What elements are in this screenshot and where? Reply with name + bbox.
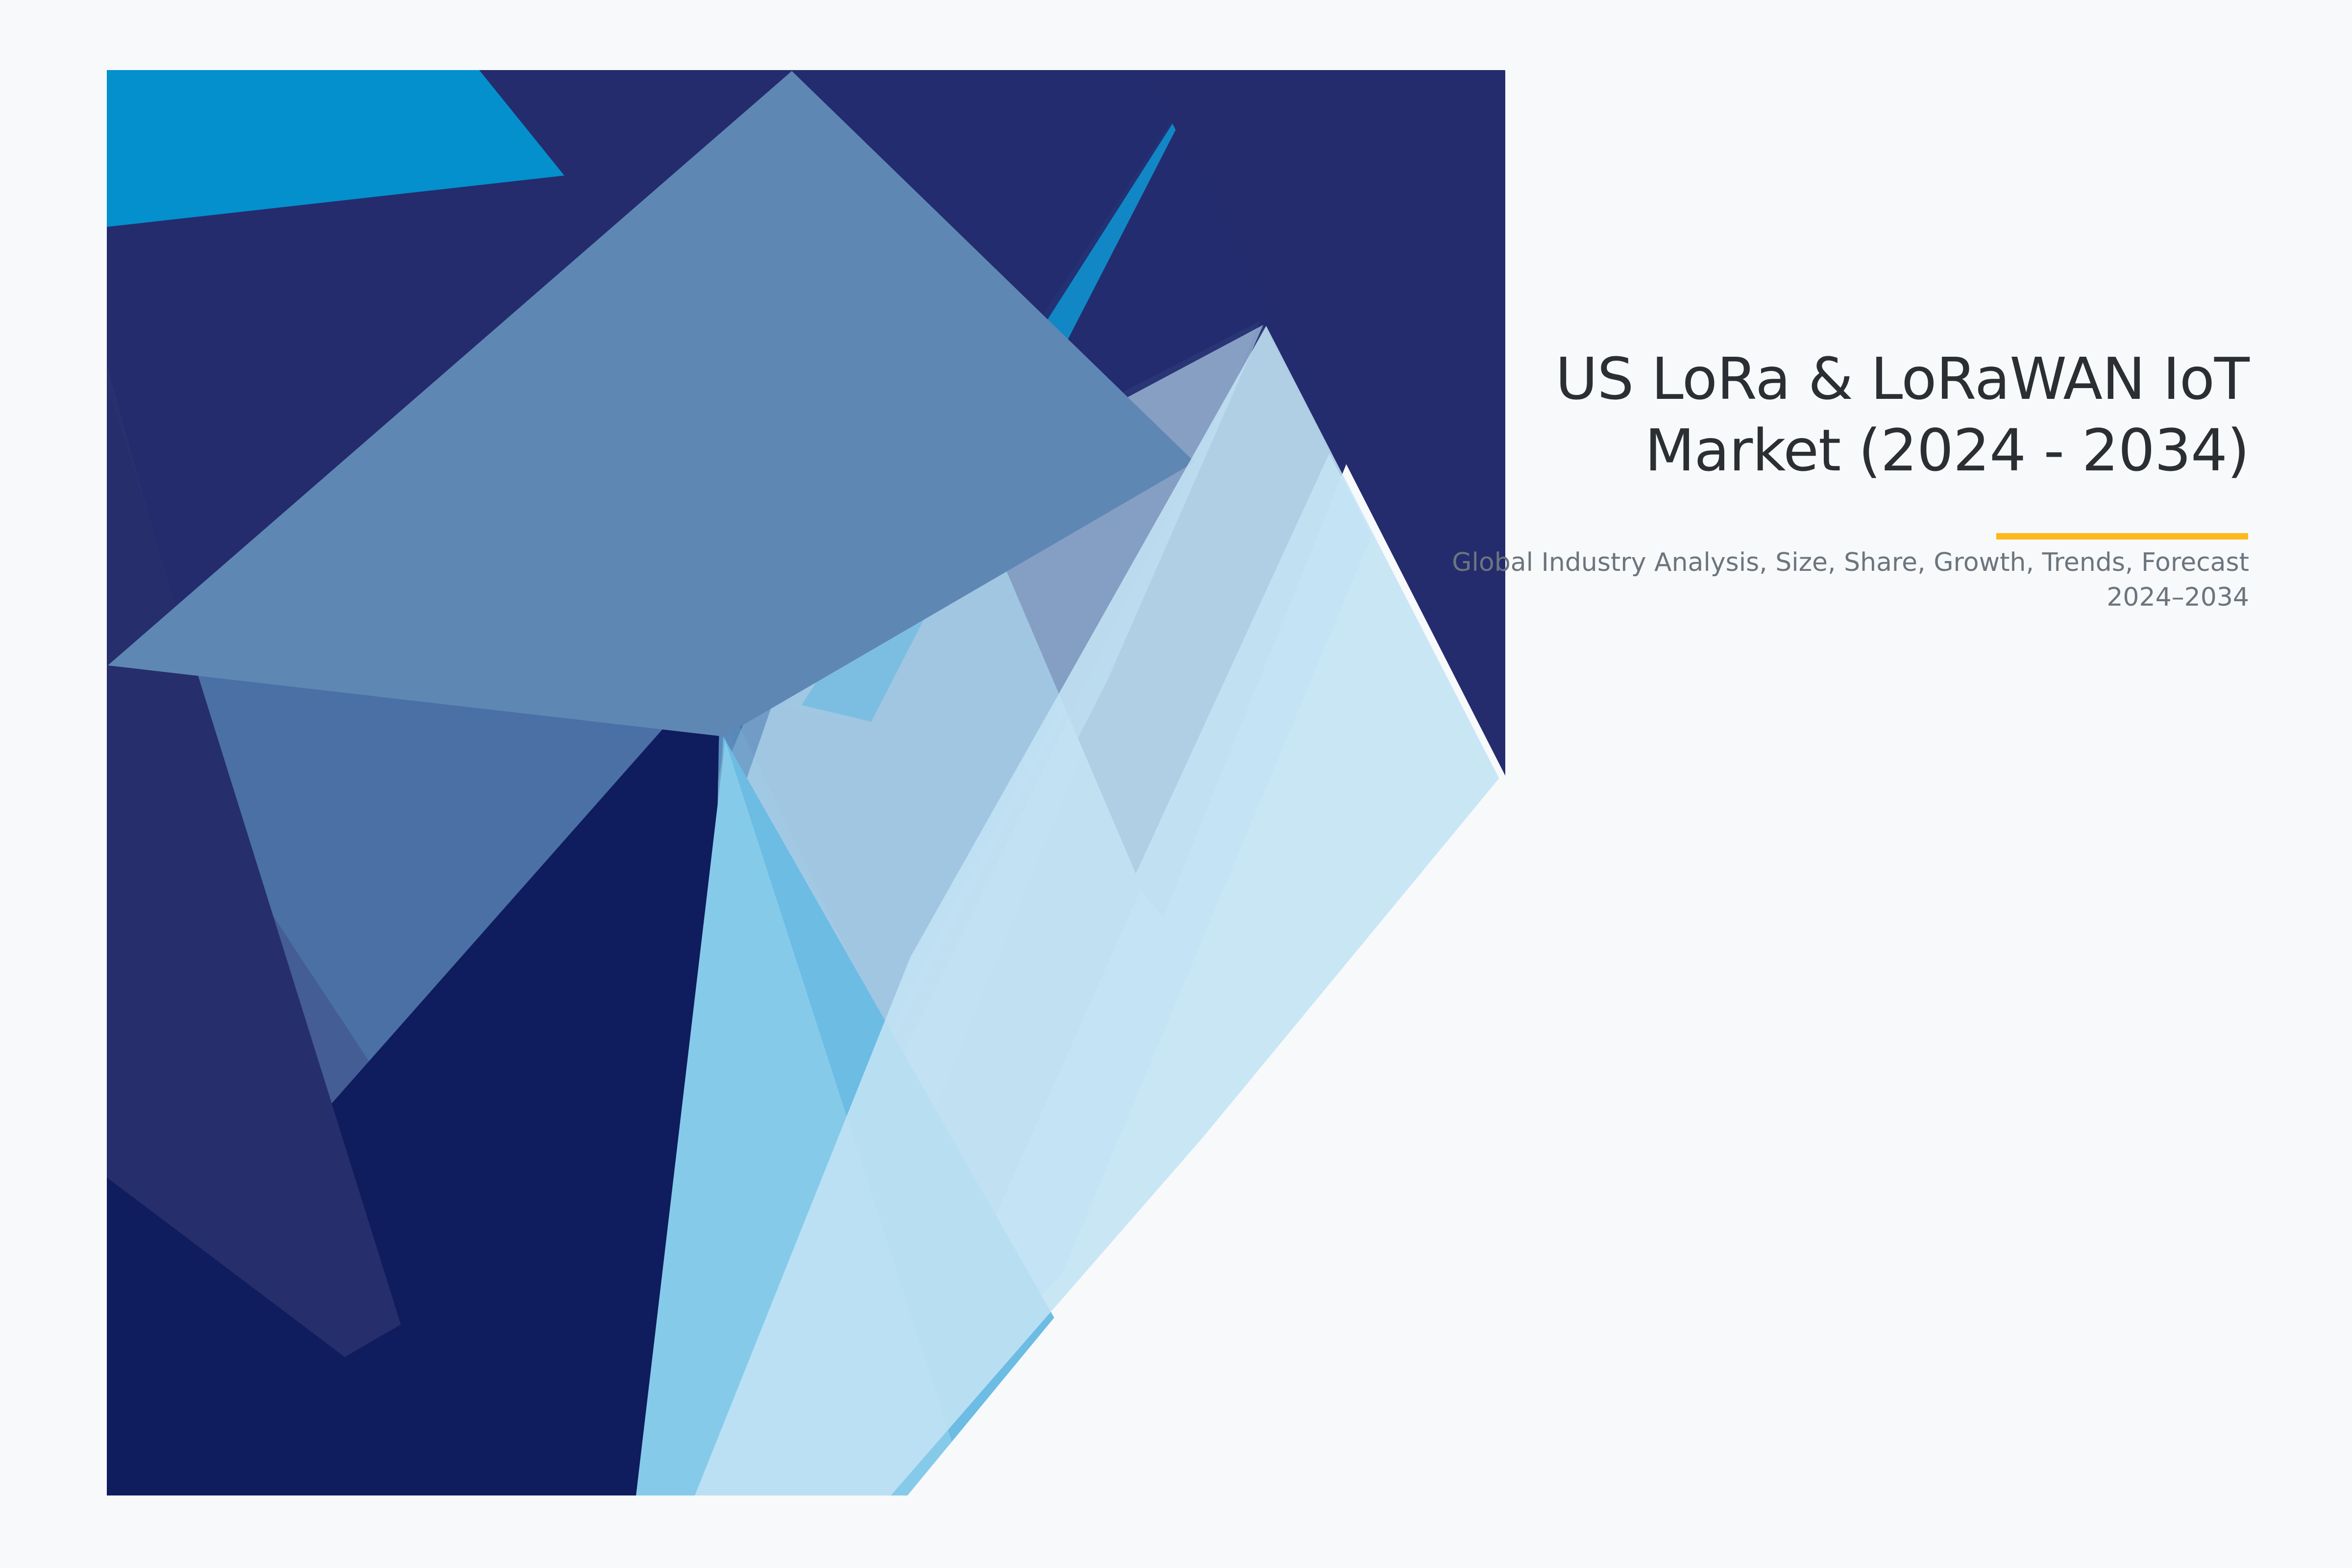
hero-artwork — [107, 70, 1505, 1495]
title-accent-underline — [1996, 533, 2248, 539]
cover-text-block: US LoRa & LoRaWAN IoT Market (2024 - 203… — [1445, 343, 2249, 615]
abstract-geometric-graphic — [107, 70, 1505, 1495]
cover-page: US LoRa & LoRaWAN IoT Market (2024 - 203… — [0, 0, 2352, 1568]
page-title: US LoRa & LoRaWAN IoT Market (2024 - 203… — [1445, 343, 2249, 487]
page-subtitle: Global Industry Analysis, Size, Share, G… — [1445, 545, 2249, 616]
